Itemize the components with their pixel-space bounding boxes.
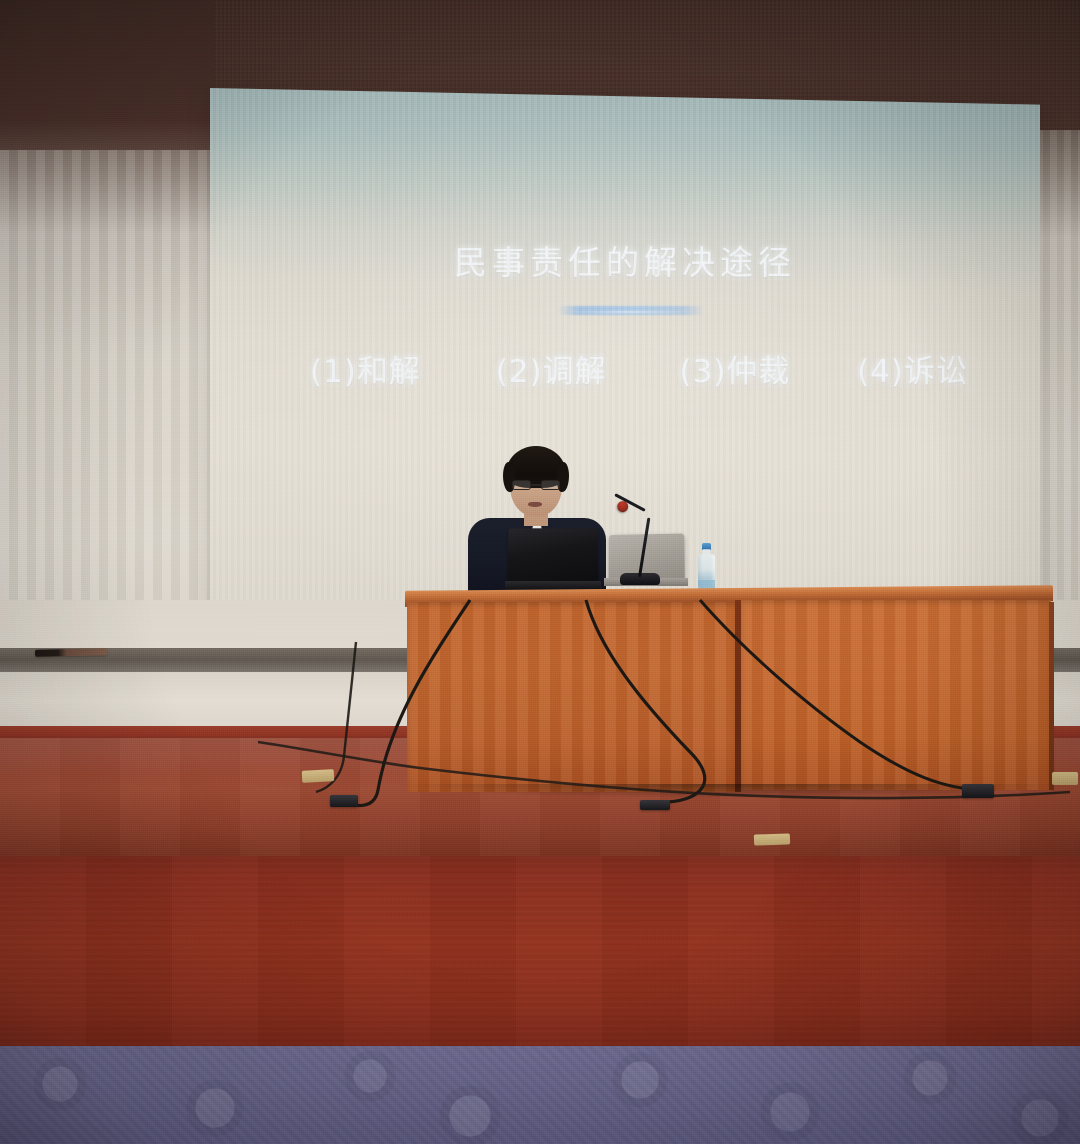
glasses-lens-left <box>512 480 531 490</box>
pointer-stick <box>35 648 107 657</box>
podium-panel-left <box>407 602 737 792</box>
podium-right-edge <box>1049 602 1054 790</box>
floor-adapter-center <box>640 800 670 810</box>
upper-left-wall <box>0 0 214 172</box>
stage-front-panel <box>0 856 1080 1048</box>
water-bottle <box>698 543 715 588</box>
left-curtain-panel <box>0 150 216 670</box>
black-laptop <box>505 528 601 590</box>
slide-title: 民事责任的解决途径 <box>210 236 1040 284</box>
glasses-bridge <box>531 484 541 486</box>
wooden-podium <box>405 588 1053 800</box>
floor-adapter-right <box>962 784 994 798</box>
microphone-stem <box>638 518 650 578</box>
black-laptop-lid <box>508 528 599 583</box>
podium-panel-right <box>741 600 1051 790</box>
lecture-hall-photo: 民事责任的解决途径 (1)和解 (2)调解 (3)仲裁 (4)诉讼 <box>0 0 1080 1144</box>
floor-tape-mark-left <box>302 769 335 783</box>
title-underline-decoration <box>558 306 704 315</box>
slide-item-3: (3)仲裁 <box>679 346 790 391</box>
gooseneck-microphone <box>598 503 658 593</box>
slide-item-4: (4)诉讼 <box>857 346 968 391</box>
floor-tape-mark-right <box>1052 772 1078 785</box>
glasses-icon <box>512 480 560 490</box>
floor-adapter-left <box>330 795 358 807</box>
mouth <box>528 502 542 507</box>
slide-item-1: (1)和解 <box>310 346 421 391</box>
glasses-lens-right <box>541 480 560 490</box>
slide-bullet-row: (1)和解 (2)调解 (3)仲裁 (4)诉讼 <box>266 346 986 391</box>
slide-item-2: (2)调解 <box>496 346 607 391</box>
floor-tape-mark-center <box>754 833 790 845</box>
patterned-carpet <box>0 1046 1080 1144</box>
bottle-body <box>698 554 715 588</box>
